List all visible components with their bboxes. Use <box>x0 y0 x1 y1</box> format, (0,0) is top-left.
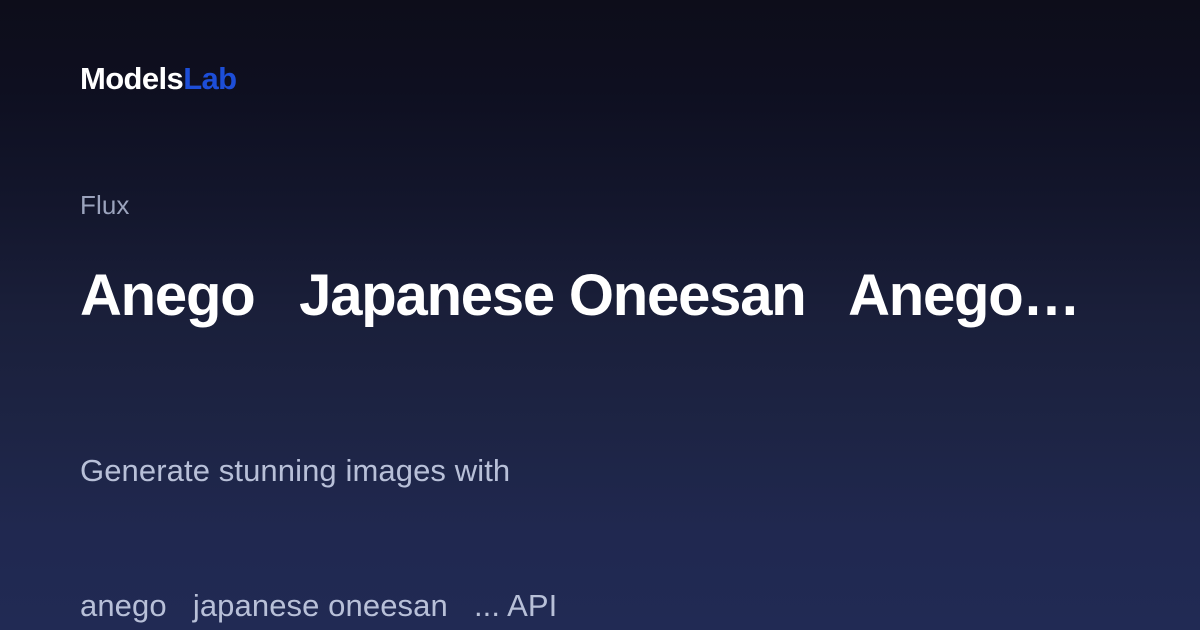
page-description: Generate stunning images with anego japa… <box>80 358 780 630</box>
og-share-card: ModelsLab Flux Anego Japanese Oneesan An… <box>0 0 1200 630</box>
page-description-line-2: anego japanese oneesan ... API <box>80 583 780 628</box>
card-content: ModelsLab Flux Anego Japanese Oneesan An… <box>80 0 1200 630</box>
model-category-label: Flux <box>80 190 130 221</box>
brand-logo-accent: Lab <box>183 61 236 96</box>
page-description-line-1: Generate stunning images with <box>80 448 780 493</box>
brand-logo: ModelsLab <box>80 63 237 94</box>
page-title: Anego Japanese Oneesan Anego… <box>80 265 1080 328</box>
brand-logo-primary: Models <box>80 61 183 96</box>
